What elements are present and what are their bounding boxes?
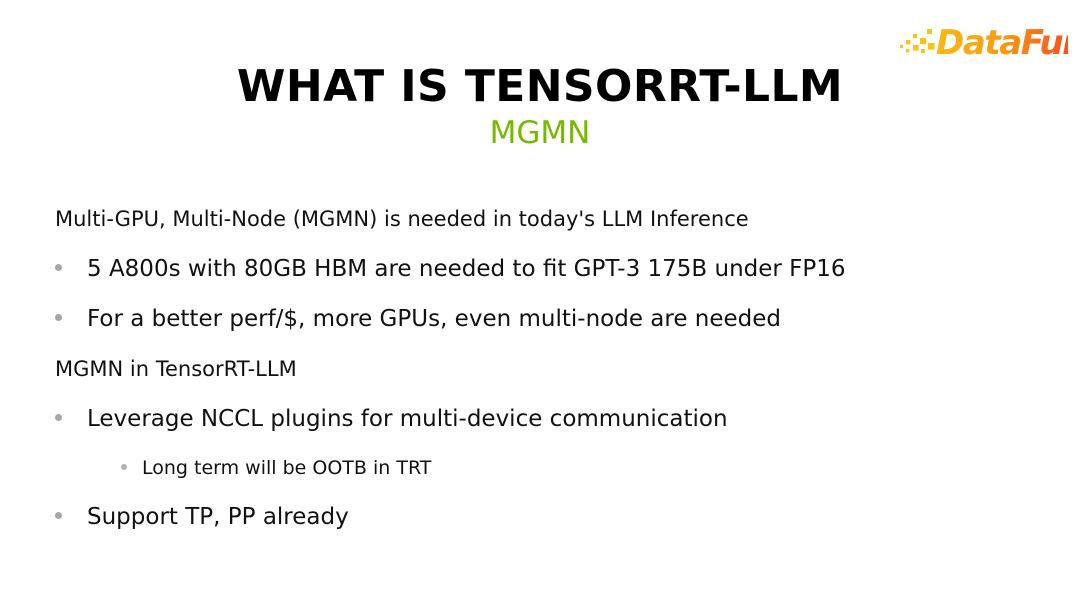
body-line-text: MGMN in TensorRT-LLM	[55, 346, 297, 392]
bullet-icon	[55, 414, 62, 421]
slide-body: Multi-GPU, Multi-Node (MGMN) is needed i…	[0, 196, 1080, 540]
bullet-icon	[55, 264, 62, 271]
page-title: WHAT IS TENSORRT-LLM	[0, 64, 1080, 111]
body-line: MGMN in TensorRT-LLM	[0, 346, 1080, 392]
body-line: Leverage NCCL plugins for multi-device c…	[0, 396, 1080, 442]
body-line-text: Multi-GPU, Multi-Node (MGMN) is needed i…	[55, 196, 749, 242]
logo-dots-icon	[900, 29, 935, 53]
body-line: For a better perf/$, more GPUs, even mul…	[0, 296, 1080, 342]
logo-wordmark: DataFun.	[936, 23, 1068, 63]
body-line: Multi-GPU, Multi-Node (MGMN) is needed i…	[0, 196, 1080, 242]
body-line: 5 A800s with 80GB HBM are needed to fit …	[0, 246, 1080, 292]
datafun-logo-svg: DataFun.	[896, 18, 1068, 64]
bullet-icon	[55, 512, 62, 519]
title-block: WHAT IS TENSORRT-LLM MGMN	[0, 64, 1080, 151]
body-line-text: Leverage NCCL plugins for multi-device c…	[87, 396, 728, 442]
body-line: Long term will be OOTB in TRT	[0, 446, 1080, 490]
bullet-icon	[55, 314, 62, 321]
body-line-text: Long term will be OOTB in TRT	[142, 446, 431, 490]
body-line: Support TP, PP already	[0, 494, 1080, 540]
datafun-logo: DataFun.	[896, 18, 1068, 64]
page-subtitle: MGMN	[0, 115, 1080, 152]
body-line-text: For a better perf/$, more GPUs, even mul…	[87, 296, 781, 342]
body-line-text: 5 A800s with 80GB HBM are needed to fit …	[87, 246, 846, 292]
bullet-icon	[121, 464, 127, 470]
body-line-text: Support TP, PP already	[87, 494, 349, 540]
